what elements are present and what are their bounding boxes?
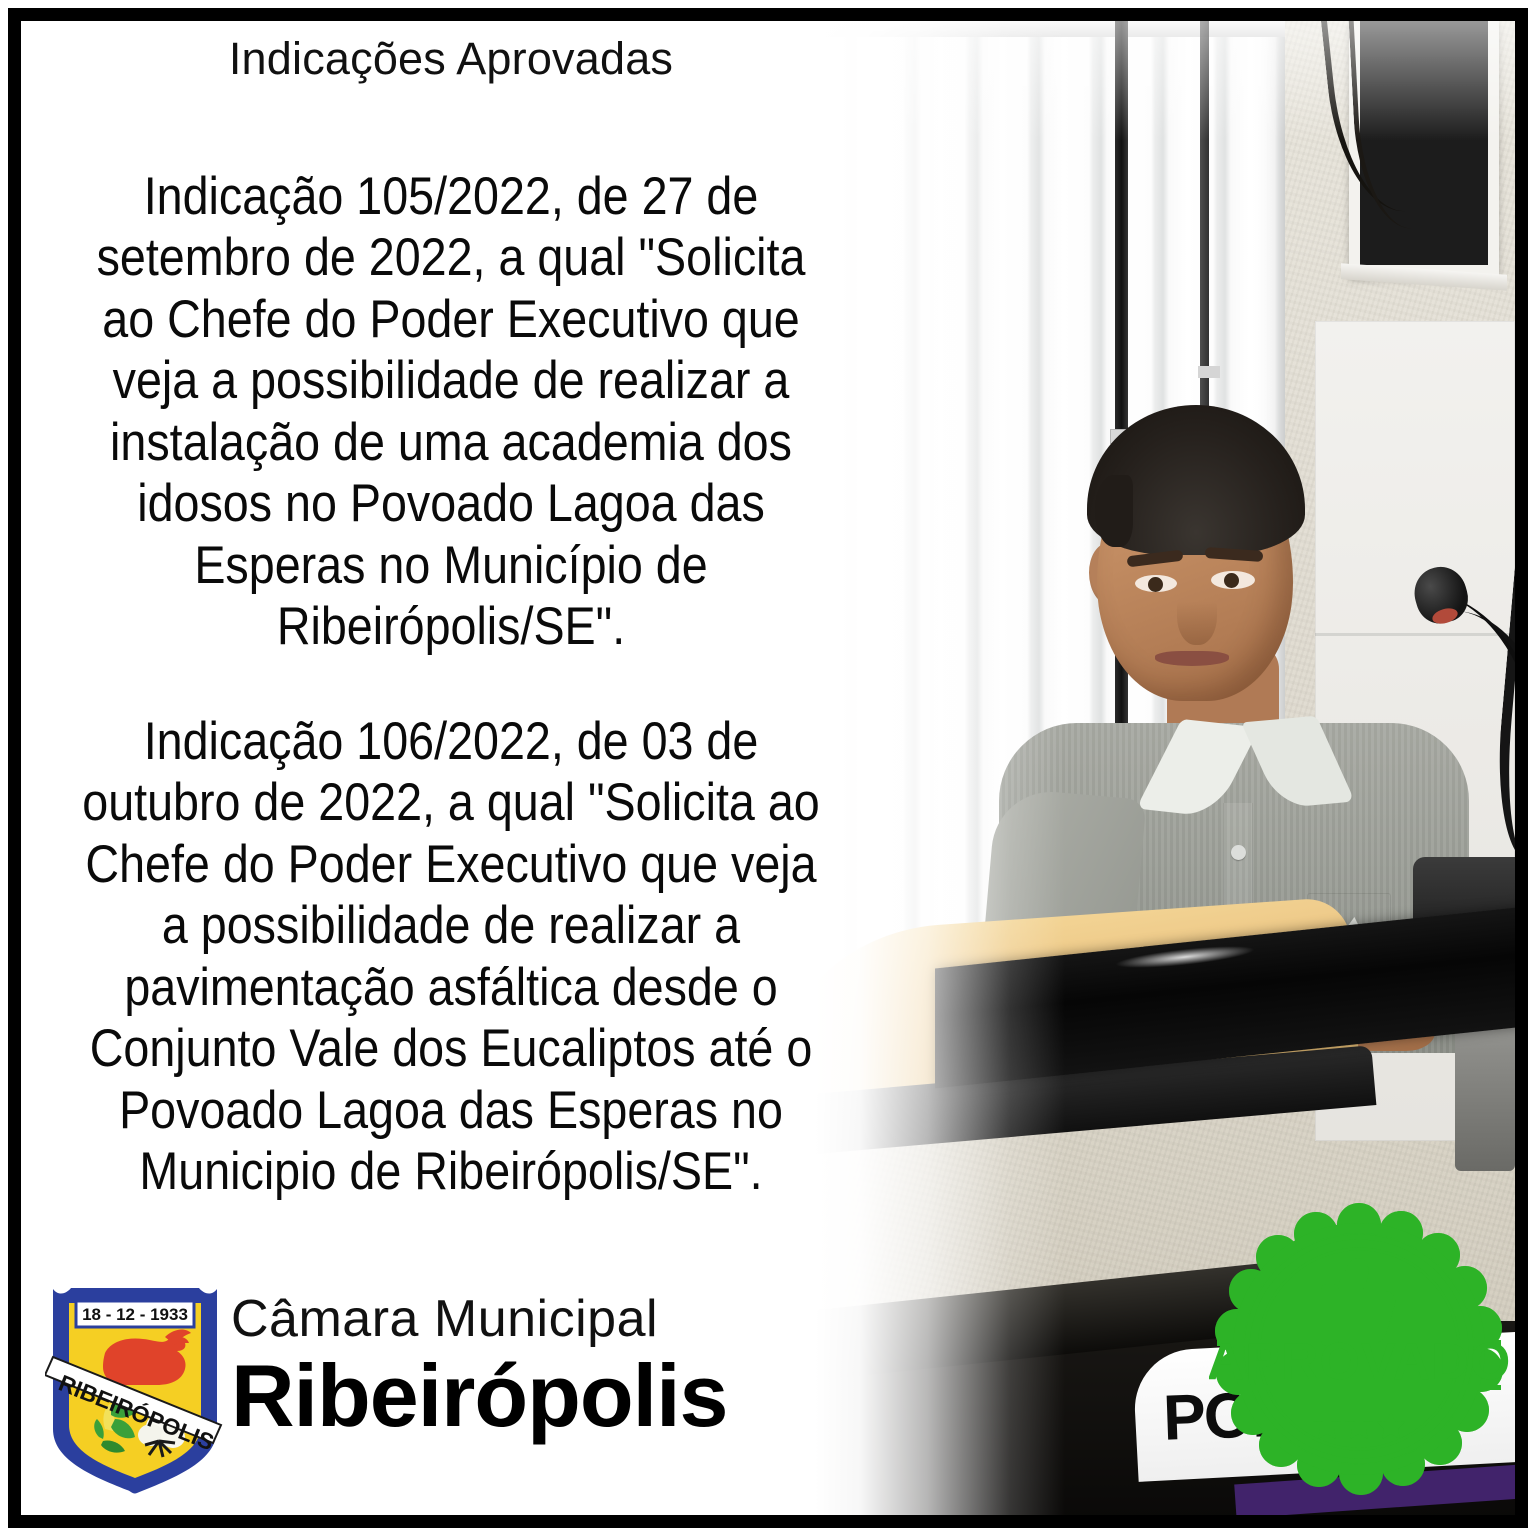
aprovado-stamp: APROVADO bbox=[1209, 1199, 1509, 1499]
footer-text-group: Câmara Municipal Ribeirópolis bbox=[231, 1293, 851, 1441]
shirt-button-1 bbox=[1231, 845, 1246, 860]
speaker-photo: PODER bbox=[815, 21, 1515, 1515]
nose bbox=[1177, 583, 1217, 645]
photo-top-fade bbox=[815, 21, 1515, 141]
eye-right bbox=[1211, 571, 1255, 589]
blinds-clip-b bbox=[1198, 366, 1220, 378]
poster-inner-canvas: PODER bbox=[21, 21, 1515, 1515]
page-title: Indicações Aprovadas bbox=[21, 33, 881, 85]
ribeiropolis-coat-of-arms: 18 - 12 - 1933 bbox=[45, 1279, 225, 1501]
institution-line: Câmara Municipal bbox=[231, 1293, 851, 1345]
indication-105-text: Indicação 105/2022, de 27 de setembro de… bbox=[73, 166, 830, 658]
aprovado-label: APROVADO bbox=[1209, 1333, 1509, 1391]
eye-left bbox=[1135, 575, 1177, 592]
indication-106-text: Indicação 106/2022, de 03 de outubro de … bbox=[73, 711, 830, 1203]
city-name: Ribeirópolis bbox=[231, 1351, 851, 1441]
founding-date-text: 18 - 12 - 1933 bbox=[82, 1305, 188, 1324]
poster-root: PODER bbox=[0, 0, 1536, 1536]
mouth bbox=[1155, 651, 1229, 666]
hair bbox=[1087, 405, 1305, 555]
footer-brand: 18 - 12 - 1933 bbox=[31, 1271, 861, 1511]
text-column: Indicações Aprovadas Indicação 105/2022,… bbox=[21, 21, 881, 1241]
